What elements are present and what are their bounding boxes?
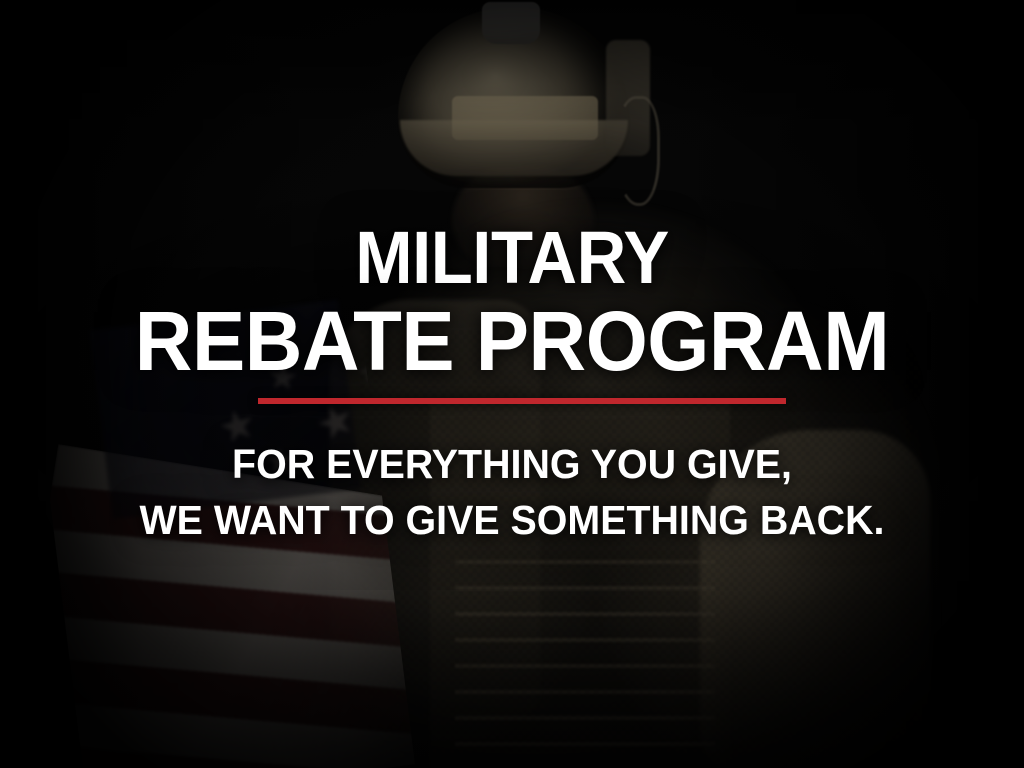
military-rebate-banner: MILITARY REBATE PROGRAM FOR EVERYTHING Y… xyxy=(0,0,1024,768)
headline-line-2: REBATE PROGRAM xyxy=(26,299,999,383)
subhead-line-2: WE WANT TO GIVE SOMETHING BACK. xyxy=(20,500,1003,541)
accent-divider-rule xyxy=(258,398,786,404)
subhead-line-1: FOR EVERYTHING YOU GIVE, xyxy=(20,444,1003,485)
headline-line-1: MILITARY xyxy=(36,221,988,295)
banner-copy: MILITARY REBATE PROGRAM FOR EVERYTHING Y… xyxy=(0,0,1024,768)
